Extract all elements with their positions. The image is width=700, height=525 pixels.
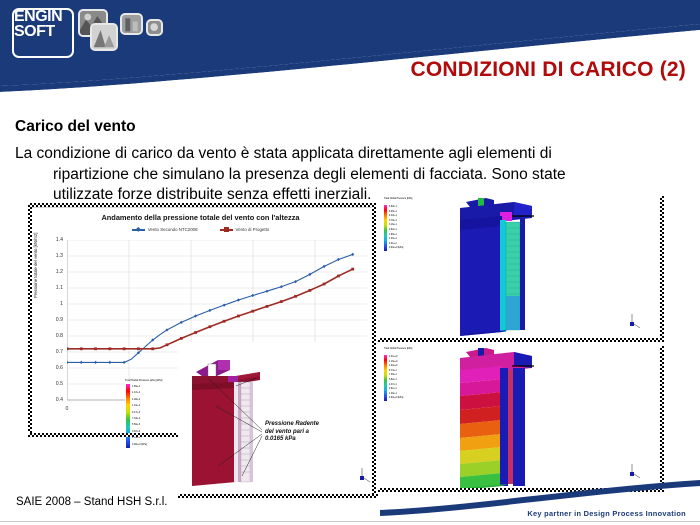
- model-selection-edge-right-bottom: [660, 346, 664, 492]
- legend-marker-blue-icon: [132, 229, 145, 231]
- page-title: CONDIZIONI DI CARICO (2): [411, 58, 686, 82]
- model-selection-edge-bottom-mid: [378, 338, 664, 342]
- building-model-graphic-br: [382, 346, 678, 498]
- y-tick-0: 1.4: [41, 237, 63, 243]
- enginsoft-logo-text: ENGIN SOFT: [14, 9, 62, 39]
- pressure-annotation-line-1: Pressione Radente: [265, 421, 319, 429]
- facade-detail-model: Pressione Radente del vento pari a 0.016…: [178, 342, 378, 502]
- paragraph-line-2: ripartizione che simulano la presenza de…: [15, 165, 675, 186]
- chart-title: Andamento della pressione totale del ven…: [29, 213, 372, 222]
- logo-line-engin: ENGIN: [14, 9, 62, 24]
- overlay-colorbar-strip: [126, 384, 130, 448]
- model-tr-colorbar: Total Nodal Pressure [kPa] 5.68e-15.05e-…: [384, 198, 422, 254]
- y-tick-7: 0.7: [41, 349, 63, 355]
- y-tick-3: 1.1: [41, 285, 63, 291]
- y-tick-8: 0.6: [41, 365, 63, 371]
- model-selection-edge-mid-bottom: [178, 494, 378, 498]
- chart-selection-edge-right: [372, 203, 376, 495]
- legend-label-2: Vento di Progetto: [236, 227, 270, 232]
- footer-wave-decoration: [380, 480, 700, 525]
- y-tick-6: 0.8: [41, 333, 63, 339]
- y-tick-1: 1.3: [41, 253, 63, 259]
- y-tick-9: 0.5: [41, 381, 63, 387]
- thumbnail-image-3: [120, 13, 143, 35]
- building-pressure-gradient-model: Total Nodal Pressure [kPa] 1.31e+01.16e+…: [382, 346, 678, 498]
- section-subtitle: Carico del vento: [15, 118, 136, 136]
- slide-header: ENGIN SOFT CONDIZIONI DI CARICO (2): [0, 0, 700, 100]
- model-br-colorbar-strip: [384, 355, 387, 401]
- legend-marker-red-icon: [220, 229, 233, 231]
- legend-label-1: Vento Secondo NTC2008: [148, 227, 198, 232]
- chart-y-axis-label: Pressione totale del vento [kN/m2]: [33, 233, 38, 298]
- y-tick-4: 1: [41, 301, 63, 307]
- model-br-colorbar-labels: 1.31e+01.16e+01.02e+08.73e-1 7.28e-15.82…: [389, 355, 403, 401]
- x-tick-0: 0: [55, 406, 79, 412]
- chart-selection-edge-left: [28, 203, 32, 437]
- model-tr-colorbar-strip: [384, 205, 387, 251]
- pressure-annotation-line-3: 0.0165 kPa: [265, 436, 319, 444]
- model-tr-colorbar-labels: 5.68e-15.05e-14.42e-13.79e-1 3.16e-12.52…: [389, 205, 403, 251]
- model-br-colorbar-title: Total Nodal Pressure [kPa]: [384, 348, 422, 351]
- model-tr-colorbar-title: Total Nodal Pressure [kPa]: [384, 198, 422, 201]
- model-br-colorbar: Total Nodal Pressure [kPa] 1.31e+01.16e+…: [384, 348, 422, 404]
- y-tick-10: 0.4: [41, 397, 63, 403]
- thumbnail-image-4: [146, 19, 163, 36]
- overlay-colorbar-labels: 1.65e-21.47e-21.28e-21.10e-2 9.17e-37.33…: [132, 384, 147, 448]
- legend-item-ntc2008: Vento Secondo NTC2008: [132, 227, 198, 232]
- model-selection-edge-right-top: [660, 196, 664, 342]
- pressure-annotation-line-2: del vento pari a: [265, 429, 319, 437]
- building-wind-pressure-model: Total Nodal Pressure [kPa] 5.68e-15.05e-…: [382, 196, 678, 342]
- chart-selection-edge-top: [28, 203, 376, 207]
- thumbnail-image-2: [90, 23, 118, 51]
- legend-item-progetto: Vento di Progetto: [220, 227, 270, 232]
- y-tick-2: 1.2: [41, 269, 63, 275]
- footer-divider: [0, 521, 700, 522]
- footer-event-label: SAIE 2008 – Stand HSH S.r.l.: [16, 496, 168, 508]
- building-model-graphic-tr: [382, 196, 678, 342]
- chart-legend: Vento Secondo NTC2008 Vento di Progetto: [29, 227, 372, 232]
- paragraph-line-1: La condizione di carico da vento è stata…: [15, 145, 552, 162]
- pressure-annotation: Pressione Radente del vento pari a 0.016…: [265, 421, 319, 444]
- logo-line-soft: SOFT: [14, 24, 62, 39]
- footer-tagline: Key partner in Design Process Innovation: [527, 509, 686, 518]
- y-tick-5: 0.9: [41, 317, 63, 323]
